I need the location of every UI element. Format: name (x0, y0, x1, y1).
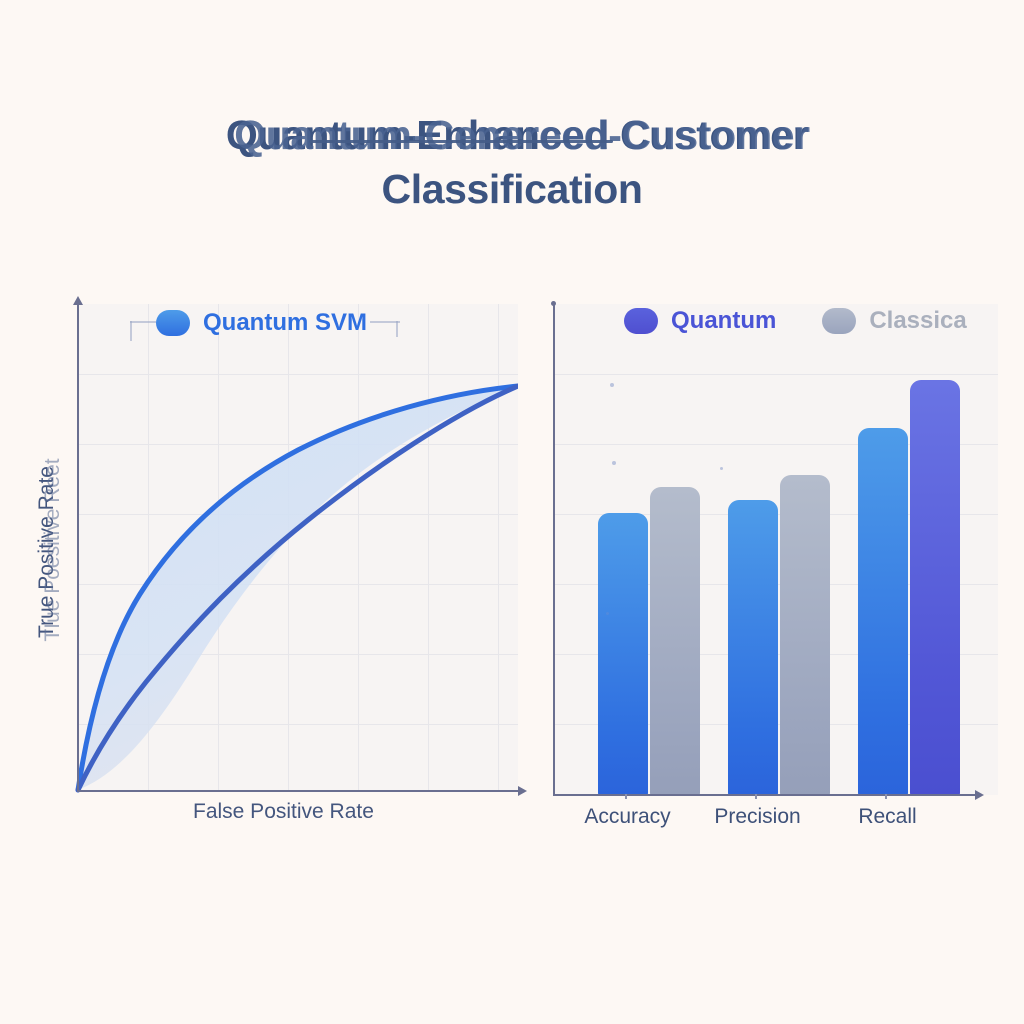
bar-x-tick (755, 794, 757, 799)
legend-swatch-icon (156, 310, 190, 336)
title-strikethrough-artifact (309, 140, 613, 143)
roc-y-axis-arrow (73, 296, 83, 305)
metrics-bar-chart: Quantum Classica Accuracy Precision Reca… (530, 282, 1008, 842)
bar-classical-precision[interactable] (780, 475, 830, 795)
figure-canvas: Quantum-Enhanced Customer Quantum-Cenere… (0, 0, 1024, 1024)
legend-label: Quantum SVM (203, 309, 367, 337)
bar-x-tick (625, 794, 627, 799)
roc-x-axis (77, 790, 519, 792)
bar-legend: Quantum Classica (624, 307, 967, 335)
legend-item-quantum[interactable]: Quantum (624, 307, 776, 335)
bar-category-label-accuracy: Accuracy (560, 805, 695, 829)
roc-y-axis-title-artifact: TIue Poesitive Reet (41, 435, 65, 665)
bar-y-axis (553, 304, 555, 796)
legend-swatch-icon (822, 308, 856, 334)
page-title-line-1: Quantum-Enhanced Customer Quantum-Cenere… (0, 108, 1024, 162)
render-speck-artifact (606, 612, 609, 615)
roc-curves-svg (18, 282, 518, 842)
legend-label: Quantum (671, 307, 776, 335)
render-speck-artifact (610, 383, 614, 387)
bar-quantum-precision[interactable] (728, 500, 778, 795)
bar-y-axis-cap (551, 301, 556, 306)
legend-tick-artifact (396, 321, 398, 337)
bar-quantum-accuracy[interactable] (598, 513, 648, 795)
bar-x-tick (885, 794, 887, 799)
bar-quantum-recall[interactable] (858, 428, 908, 795)
legend-tick-artifact (130, 321, 156, 323)
bar-gridline-h (554, 374, 998, 375)
bar-x-axis-arrow (975, 790, 984, 800)
page-title: Quantum-Enhanced Customer Quantum-Cenere… (0, 108, 1024, 216)
bar-x-axis (553, 794, 976, 796)
legend-tick-artifact (130, 321, 132, 341)
bar-category-label-precision: Precision (690, 805, 825, 829)
roc-y-axis (77, 304, 79, 792)
legend-item-quantum-svm[interactable]: Quantum SVM (156, 309, 367, 337)
roc-x-axis-title: False Positive Rate (193, 800, 374, 824)
render-speck-artifact (720, 467, 723, 470)
bar-classical-recall[interactable] (910, 380, 960, 795)
roc-legend: Quantum SVM (156, 309, 367, 337)
legend-label: Classica (869, 307, 966, 335)
page-title-line-2: Classification (0, 162, 1024, 216)
legend-item-classical[interactable]: Classica (822, 307, 966, 335)
roc-curve-chart: Quantum SVM True Positive Rate TIue Poes… (18, 282, 518, 842)
render-speck-artifact (612, 461, 616, 465)
bar-classical-accuracy[interactable] (650, 487, 700, 795)
legend-swatch-icon (624, 308, 658, 334)
roc-x-axis-arrow (518, 786, 527, 796)
page-title-line-1-text: Quantum-Enhanced Customer (226, 112, 808, 158)
bar-category-label-recall: Recall (820, 805, 955, 829)
